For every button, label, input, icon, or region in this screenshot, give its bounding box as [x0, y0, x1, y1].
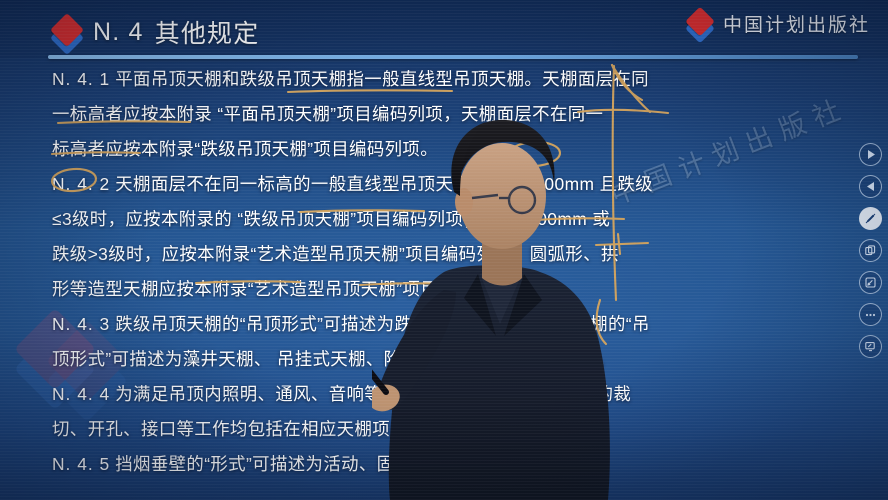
- paragraph-number: N. 4. 1: [52, 69, 110, 89]
- page-title: N. 4 其他规定: [52, 14, 259, 50]
- paragraph-n-4-2: N. 4. 2天棚面层不在同一标高的一般直线型吊顶天棚，高差≤400mm 且跌级: [52, 167, 848, 202]
- pen-icon[interactable]: [859, 207, 882, 230]
- paragraph-n-4-4-line2: 切、开孔、接口等工作均包括在相应天棚项目的工作内容中。: [52, 412, 848, 447]
- paragraph-line: 为满足吊顶内照明、通风、音响等设备的安装对天棚面层进行的裁: [115, 384, 631, 404]
- play-icon[interactable]: [859, 143, 882, 166]
- paragraph-line: 跌级>3级时，应按本附录“艺术造型吊顶天棚”项目编码列项。圆弧形、拱: [52, 244, 619, 264]
- title-divider: [48, 55, 858, 59]
- paragraph-line: 切、开孔、接口等工作均包括在相应天棚项目的工作内容中。: [52, 419, 532, 439]
- paragraph-n-4-1-line3: 标高者应按本附录“跌级吊顶天棚”项目编码列项。: [52, 132, 848, 167]
- paragraph-n-4-1-line2: 一标高者应按本附录 “平面吊顶天棚”项目编码列项，天棚面层不在同一: [52, 97, 848, 132]
- paragraph-n-4-2-line4: 形等造型天棚应按本附录“艺术造型吊顶天棚”项目编码列项。: [52, 272, 848, 307]
- paragraph-line: 形等造型天棚应按本附录“艺术造型吊顶天棚”项目编码列项。: [52, 279, 527, 299]
- paragraph-number: N. 4. 3: [52, 314, 110, 334]
- book-diamond-icon: [52, 17, 82, 47]
- lecture-slide-stage: 中国计划出版社 N. 4 其他规定 中国计划出版社 N. 4. 1平面吊顶天棚和…: [0, 0, 888, 500]
- section-title: 其他规定: [155, 14, 260, 50]
- paragraph-number: N. 4. 2: [52, 174, 110, 194]
- brand-book-diamond-icon: [687, 10, 714, 37]
- paragraph-line: ≤3级时，应按本附录的 “跌级吊顶天棚”项目编码列项；高差>400mm 或: [52, 209, 610, 229]
- paragraph-line: 顶形式”可描述为藻井天棚、 吊挂式天棚、阶梯形天棚、锯齿形天棚等。: [52, 349, 615, 369]
- paragraph-n-4-4: N. 4. 4为满足吊顶内照明、通风、音响等设备的安装对天棚面层进行的裁: [52, 377, 848, 412]
- paragraph-n-4-5: N. 4. 5挡烟垂壁的“形式”可描述为活动、固定式。: [52, 447, 848, 482]
- paragraph-line: 跌级吊顶天棚的“吊顶形式”可描述为跌级式；艺术造型吊顶天棚的“吊: [115, 314, 650, 334]
- screenshot-icon[interactable]: [859, 239, 882, 262]
- paragraph-line: 一标高者应按本附录 “平面吊顶天棚”项目编码列项，天棚面层不在同一: [52, 104, 603, 124]
- paragraph-number: N. 4. 4: [52, 384, 110, 404]
- paragraph-line: 标高者应按本附录“跌级吊顶天棚”项目编码列项。: [52, 139, 438, 159]
- paragraph-n-4-1: N. 4. 1平面吊顶天棚和跌级吊顶天棚指一般直线型吊顶天棚。天棚面层在同: [52, 62, 848, 97]
- note-icon[interactable]: [859, 271, 882, 294]
- publisher-brand: 中国计划出版社: [687, 10, 870, 37]
- slide-body: N. 4. 1平面吊顶天棚和跌级吊顶天棚指一般直线型吊顶天棚。天棚面层在同 一标…: [52, 62, 848, 482]
- fullscreen-icon[interactable]: [859, 335, 882, 358]
- paragraph-n-4-3-line2: 顶形式”可描述为藻井天棚、 吊挂式天棚、阶梯形天棚、锯齿形天棚等。: [52, 342, 848, 377]
- paragraph-line: 平面吊顶天棚和跌级吊顶天棚指一般直线型吊顶天棚。天棚面层在同: [115, 69, 649, 89]
- more-icon[interactable]: [859, 303, 882, 326]
- player-toolbar[interactable]: [857, 143, 884, 358]
- brand-name: 中国计划出版社: [723, 10, 870, 37]
- section-number: N. 4: [93, 18, 144, 47]
- paragraph-number: N. 4. 5: [52, 454, 110, 474]
- paragraph-line: 天棚面层不在同一标高的一般直线型吊顶天棚，高差≤400mm 且跌级: [115, 174, 653, 194]
- slide-header: N. 4 其他规定 中国计划出版社: [0, 0, 888, 58]
- paragraph-n-4-2-line2: ≤3级时，应按本附录的 “跌级吊顶天棚”项目编码列项；高差>400mm 或: [52, 202, 848, 237]
- paragraph-line: 挡烟垂壁的“形式”可描述为活动、固定式。: [115, 454, 448, 474]
- previous-icon[interactable]: [859, 175, 882, 198]
- paragraph-n-4-3: N. 4. 3跌级吊顶天棚的“吊顶形式”可描述为跌级式；艺术造型吊顶天棚的“吊: [52, 307, 848, 342]
- paragraph-n-4-2-line3: 跌级>3级时，应按本附录“艺术造型吊顶天棚”项目编码列项。圆弧形、拱: [52, 237, 848, 272]
